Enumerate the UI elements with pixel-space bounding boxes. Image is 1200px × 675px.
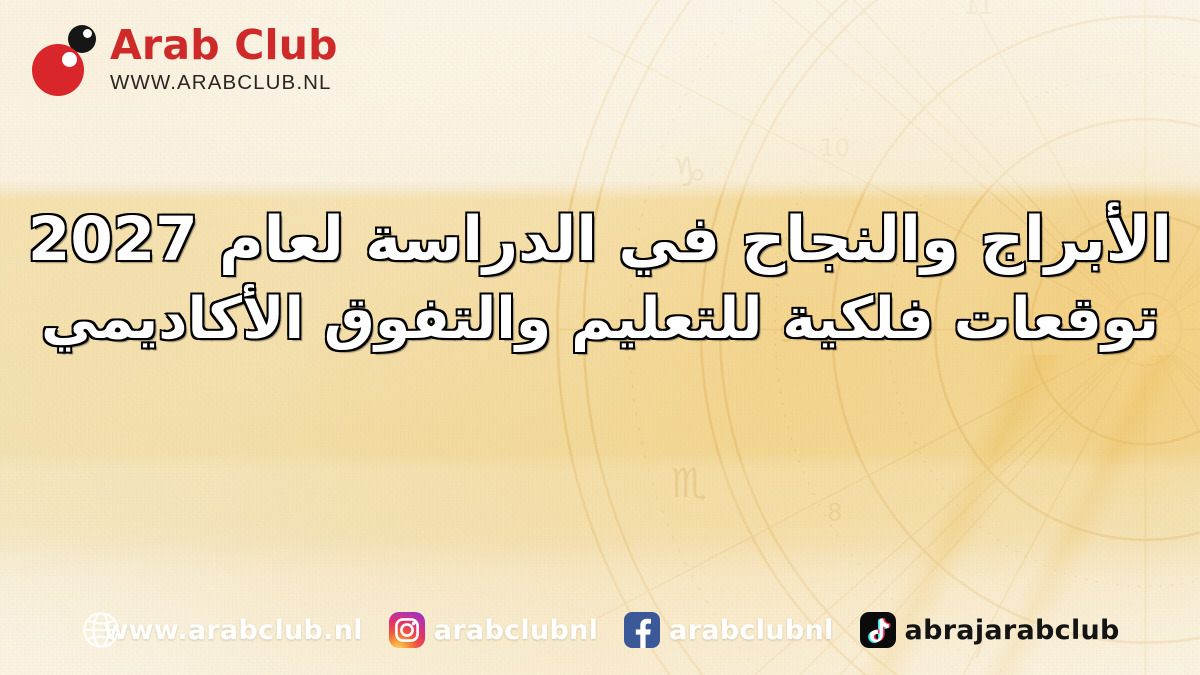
- social-item-instagram[interactable]: arabclubnl: [389, 612, 598, 648]
- instagram-icon: [389, 612, 425, 648]
- brand-logo[interactable]: Arab Club WWW.ARABCLUB.NL: [30, 22, 338, 96]
- banner-canvas: ♓ ♒ ♑ ♏ ♎ ♍ ♌ ♋ ♊ ♉ 12 1 2 3 4 5 6 7 8 9…: [0, 0, 1200, 675]
- social-item-tiktok[interactable]: abrajarabclub: [860, 612, 1120, 648]
- social-handle-instagram: arabclubnl: [434, 615, 598, 646]
- brand-website: WWW.ARABCLUB.NL: [110, 73, 338, 94]
- brand-name: Arab Club: [110, 25, 338, 66]
- logo-red-circle-icon: [32, 44, 84, 96]
- social-handle-tiktok: abrajarabclub: [905, 615, 1120, 646]
- title-line-1: الأبراج والنجاح في الدراسة لعام 2027: [0, 205, 1200, 275]
- social-handle-facebook: arabclubnl: [669, 615, 833, 646]
- tiktok-icon: [860, 612, 896, 648]
- social-handle-website: www.arabclub.nl: [103, 615, 362, 646]
- social-links-bar: www.arabclub.nl arabclubnl arabclubnl: [0, 609, 1200, 651]
- social-item-website[interactable]: www.arabclub.nl: [80, 609, 362, 651]
- globe-icon: [80, 609, 122, 651]
- social-item-facebook[interactable]: arabclubnl: [624, 612, 833, 648]
- page-title: الأبراج والنجاح في الدراسة لعام 2027 توق…: [0, 205, 1200, 352]
- title-line-2: توقعات فلكية للتعليم والتفوق الأكاديمي: [0, 287, 1200, 352]
- facebook-icon: [624, 612, 660, 648]
- brand-logo-text: Arab Club WWW.ARABCLUB.NL: [110, 25, 338, 94]
- two-circles-logo-icon: [30, 22, 96, 96]
